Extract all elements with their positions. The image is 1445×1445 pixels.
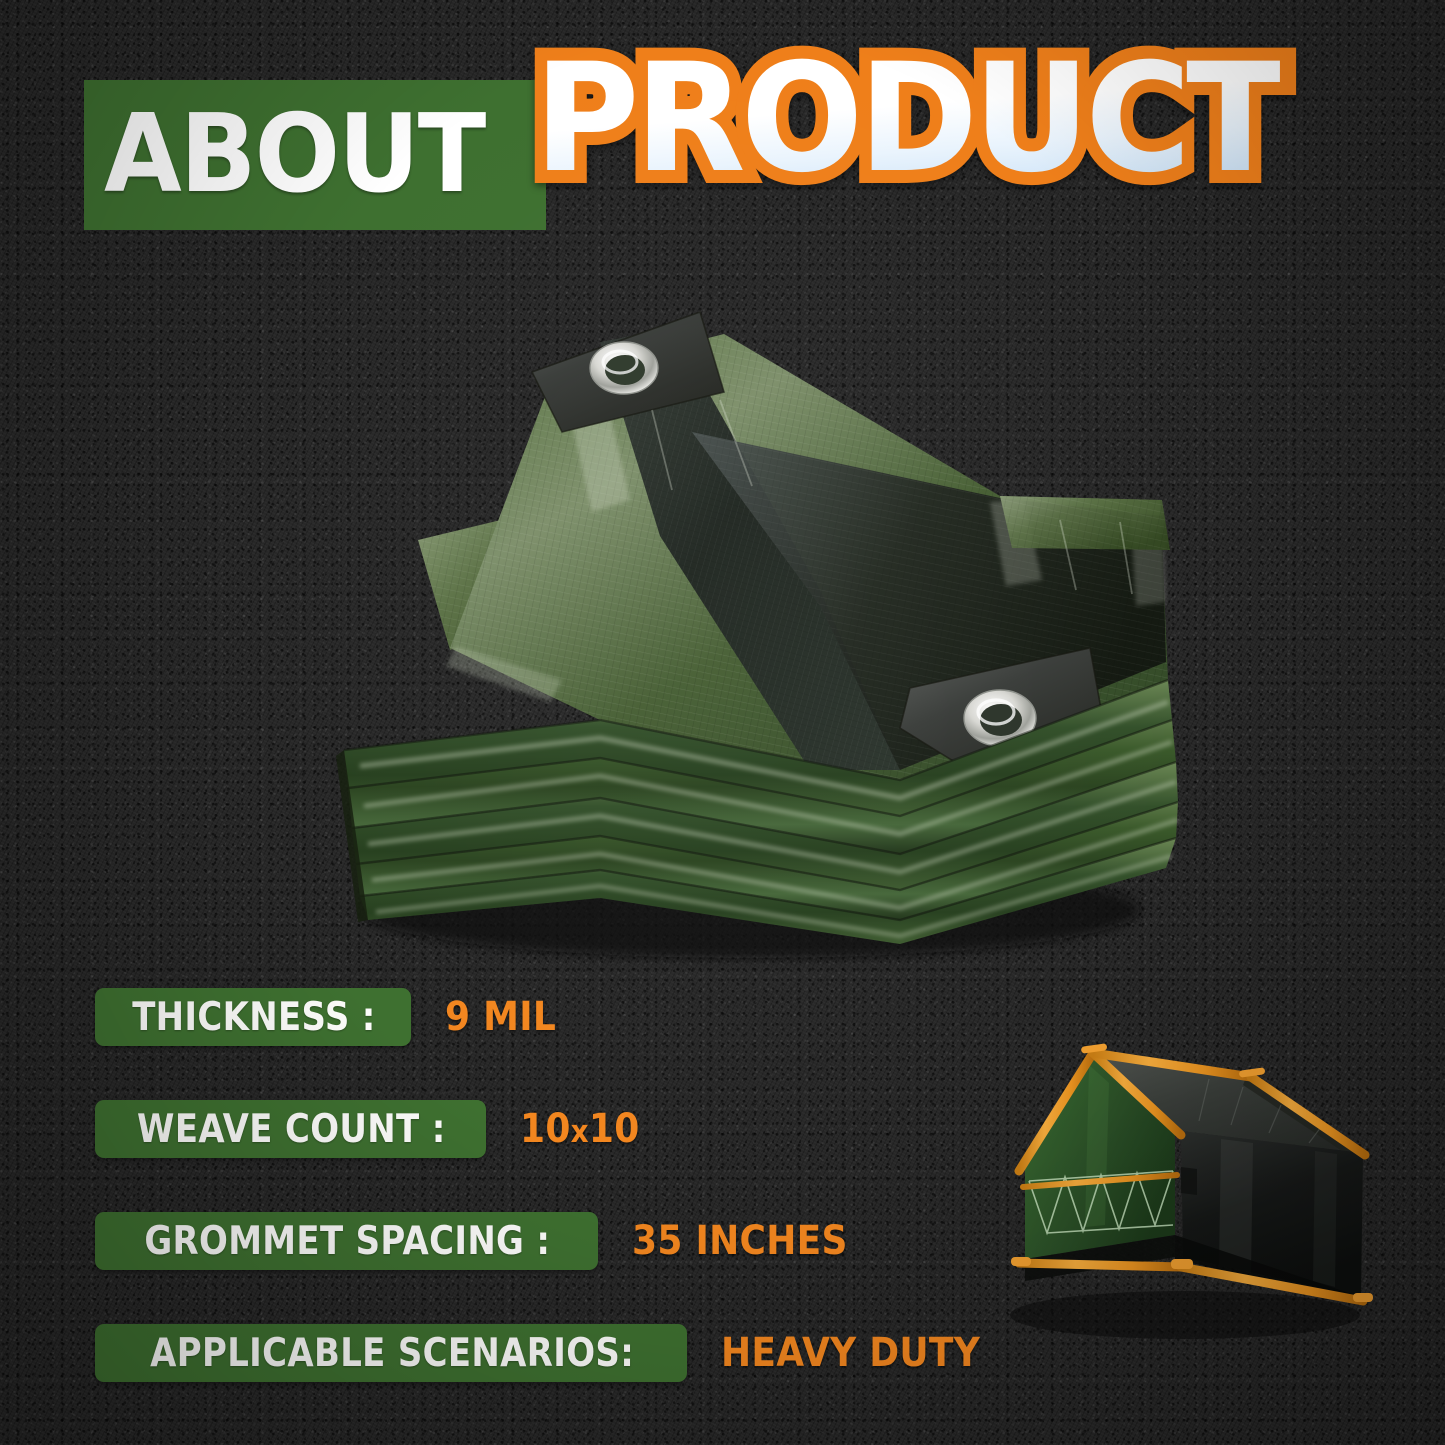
page-title-product-fill: PRODUCT: [534, 32, 1280, 206]
weave-count-separator: x: [570, 1114, 588, 1150]
spec-row-grommet-spacing: GROMMET SPACING : 35 INCHES: [95, 1212, 871, 1270]
spec-value-grommet-spacing: 35 INCHES: [632, 1221, 848, 1261]
spec-value-weave-count: 10x10: [520, 1109, 640, 1149]
spec-label-applicable-scenarios: APPLICABLE SCENARIOS:: [150, 1334, 634, 1373]
spec-label-grommet-spacing: GROMMET SPACING :: [144, 1222, 550, 1261]
spec-row-applicable-scenarios: APPLICABLE SCENARIOS: HEAVY DUTY: [95, 1324, 1009, 1382]
spec-value-applicable-scenarios: HEAVY DUTY: [721, 1333, 980, 1373]
spec-row-thickness: THICKNESS : 9 MIL: [95, 988, 568, 1046]
tarp-shelter-illustration: [985, 1035, 1380, 1345]
spec-pill-grommet-spacing: GROMMET SPACING :: [95, 1212, 598, 1270]
spec-row-weave-count: WEAVE COUNT : 10x10: [95, 1100, 653, 1158]
spec-pill-weave-count: WEAVE COUNT :: [95, 1100, 486, 1158]
product-photo-folded-tarp: [300, 250, 1180, 960]
weave-count-second: 10: [589, 1106, 640, 1152]
shelter-diagram: [985, 1035, 1380, 1345]
page-title-product: PRODUCT PRODUCT: [534, 44, 1280, 194]
page-header: ABOUT PRODUCT PRODUCT: [0, 0, 1445, 260]
spec-pill-applicable-scenarios: APPLICABLE SCENARIOS:: [95, 1324, 687, 1382]
folded-tarp-illustration: [300, 250, 1180, 960]
infographic-canvas: ABOUT PRODUCT PRODUCT: [0, 0, 1445, 1445]
weave-count-first: 10: [520, 1106, 571, 1152]
spec-label-weave-count: WEAVE COUNT :: [137, 1110, 446, 1149]
grommet-top: [590, 342, 658, 394]
spec-pill-thickness: THICKNESS :: [95, 988, 411, 1046]
spec-label-thickness: THICKNESS :: [132, 998, 376, 1037]
spec-value-thickness: 9 MIL: [445, 997, 556, 1037]
page-title-about: ABOUT: [104, 92, 484, 218]
